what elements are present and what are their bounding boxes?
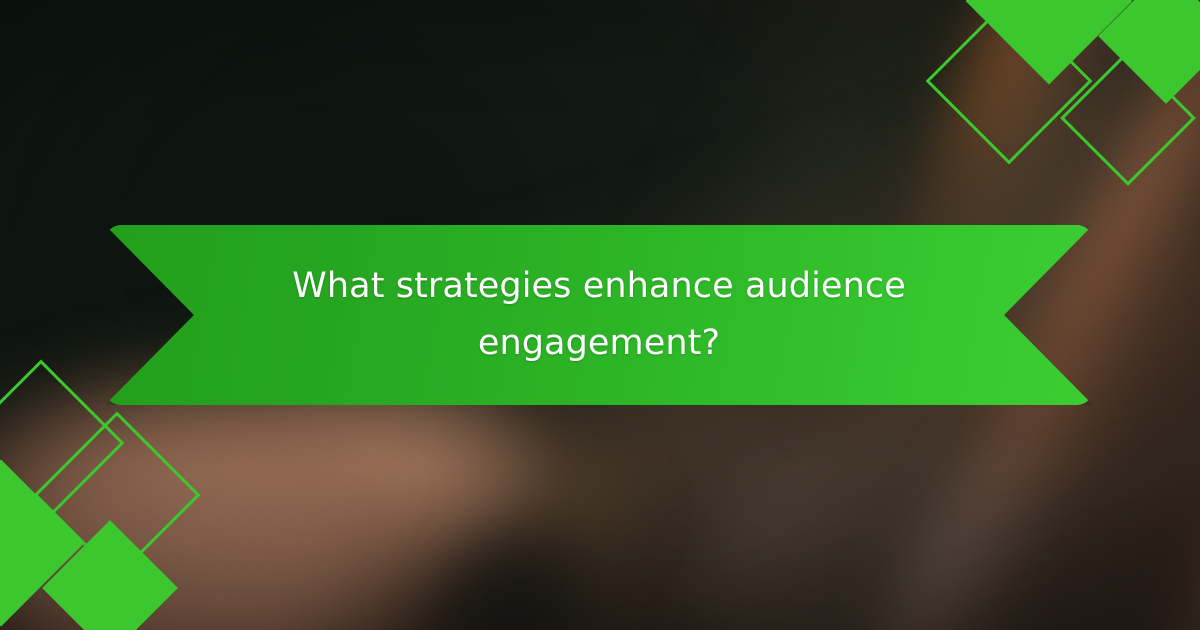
ribbon-banner: What strategies enhance audience engagem… xyxy=(105,225,1093,405)
banner-title: What strategies enhance audience engagem… xyxy=(249,258,949,371)
social-card: What strategies enhance audience engagem… xyxy=(0,0,1200,630)
